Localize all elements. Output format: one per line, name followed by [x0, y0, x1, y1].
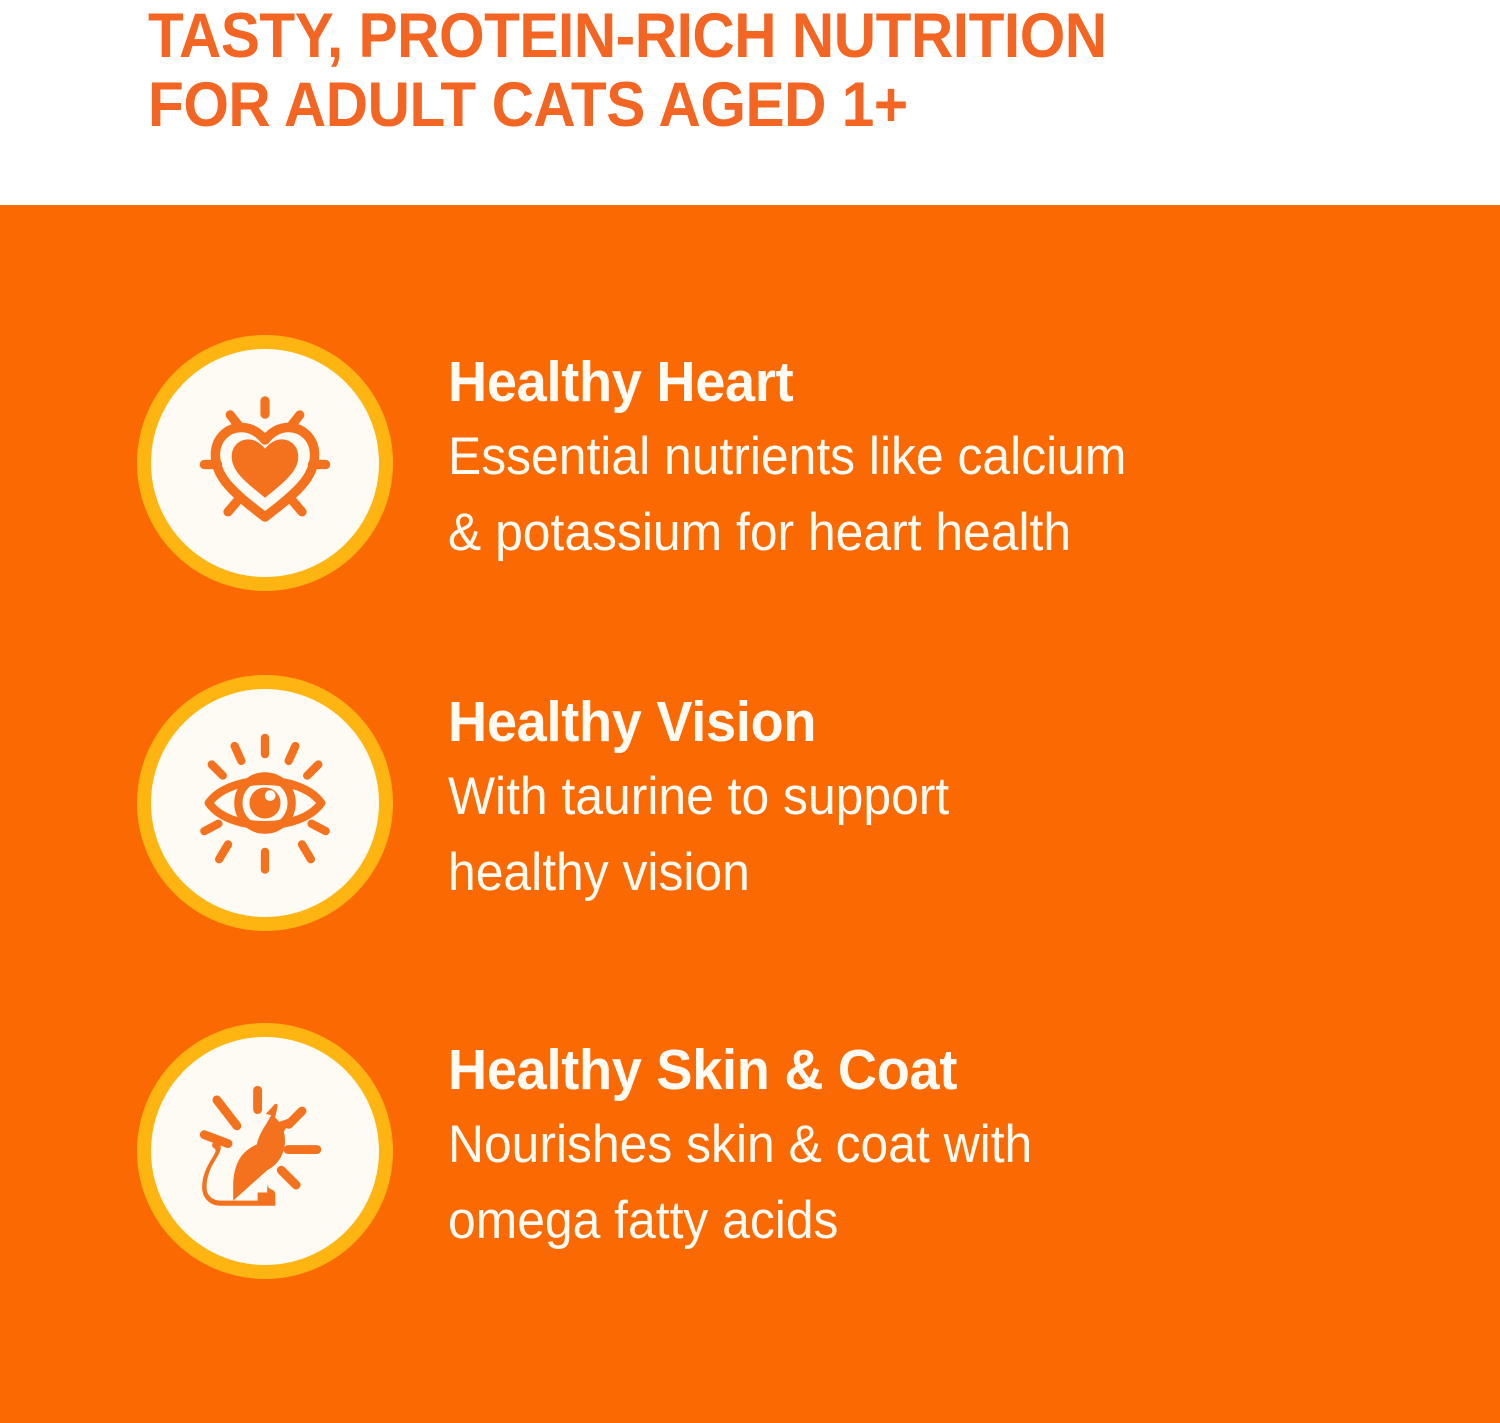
- feature-description: Nourishes skin & coat with omega fatty a…: [448, 1107, 1350, 1259]
- radiant-eye-icon: [137, 675, 393, 931]
- feature-row-healthy-heart: Healthy Heart Essential nutrients like c…: [0, 335, 1500, 591]
- feature-row-healthy-skin-coat: Healthy Skin & Coat Nourishes skin & coa…: [0, 1023, 1500, 1279]
- feature-text-healthy-vision: Healthy Vision With taurine to support h…: [448, 675, 1408, 911]
- radiant-heart-icon: [137, 335, 393, 591]
- benefits-panel: Healthy Heart Essential nutrients like c…: [0, 205, 1500, 1423]
- feature-title: Healthy Skin & Coat: [448, 1039, 1360, 1101]
- feature-description: With taurine to support healthy vision: [448, 759, 1350, 911]
- feature-row-healthy-vision: Healthy Vision With taurine to support h…: [0, 675, 1500, 931]
- page-title: TASTY, PROTEIN-RICH NUTRITION FOR ADULT …: [148, 2, 1405, 140]
- radiant-cat-icon: [137, 1023, 393, 1279]
- feature-text-healthy-heart: Healthy Heart Essential nutrients like c…: [448, 335, 1408, 571]
- feature-text-healthy-skin-coat: Healthy Skin & Coat Nourishes skin & coa…: [448, 1023, 1408, 1259]
- feature-description: Essential nutrients like calcium & potas…: [448, 419, 1350, 571]
- feature-title: Healthy Heart: [448, 351, 1360, 413]
- icon-badge-heart: [137, 335, 393, 591]
- icon-badge-cat: [137, 1023, 393, 1279]
- product-benefits-infographic: TASTY, PROTEIN-RICH NUTRITION FOR ADULT …: [0, 0, 1500, 1423]
- feature-title: Healthy Vision: [448, 691, 1360, 753]
- icon-badge-eye: [137, 675, 393, 931]
- header-banner: TASTY, PROTEIN-RICH NUTRITION FOR ADULT …: [0, 0, 1500, 205]
